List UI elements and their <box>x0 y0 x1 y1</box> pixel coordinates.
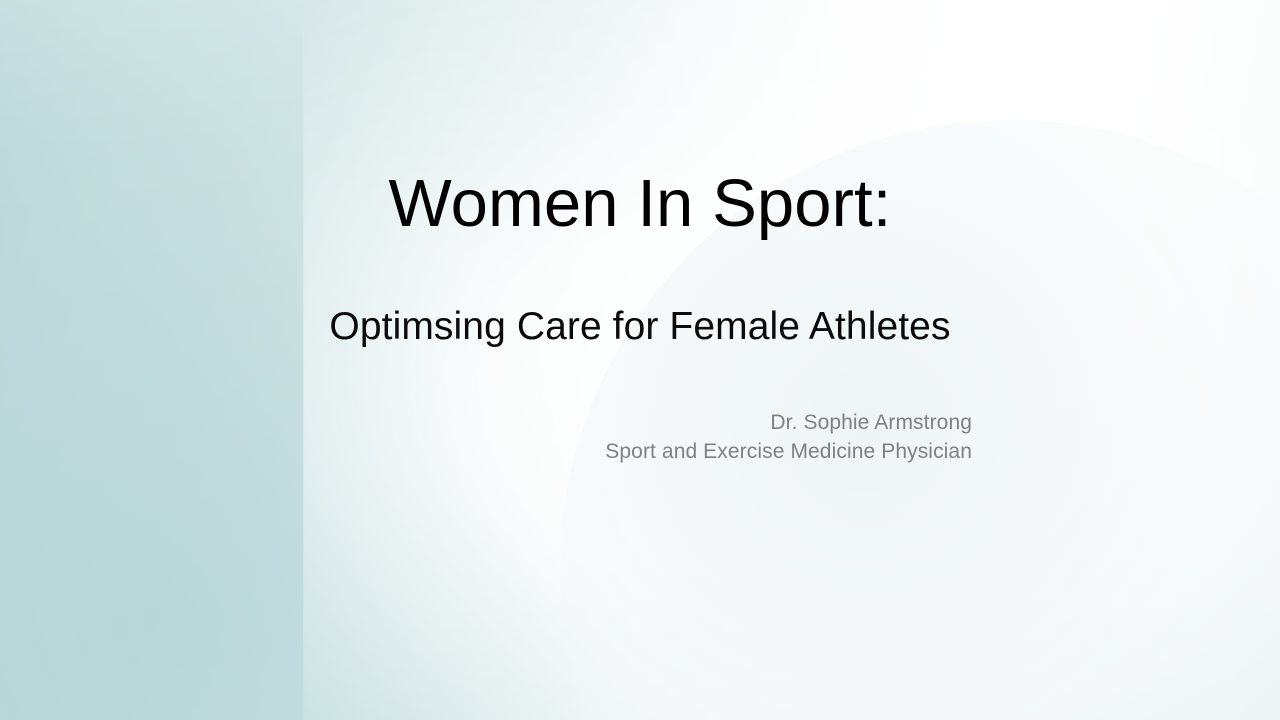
presentation-title-slide: Women In Sport: Optimsing Care for Femal… <box>0 0 1280 720</box>
title-placeholder: Women In Sport: <box>0 168 1280 239</box>
presenter-role: Sport and Exercise Medicine Physician <box>605 437 972 466</box>
slide-subtitle: Optimsing Care for Female Athletes <box>0 305 1280 349</box>
byline-placeholder: Dr. Sophie Armstrong Sport and Exercise … <box>605 408 972 467</box>
subtitle-placeholder: Optimsing Care for Female Athletes <box>0 305 1280 349</box>
presenter-name: Dr. Sophie Armstrong <box>605 408 972 437</box>
slide-content: Women In Sport: Optimsing Care for Femal… <box>0 0 1280 720</box>
slide-title: Women In Sport: <box>0 168 1280 239</box>
